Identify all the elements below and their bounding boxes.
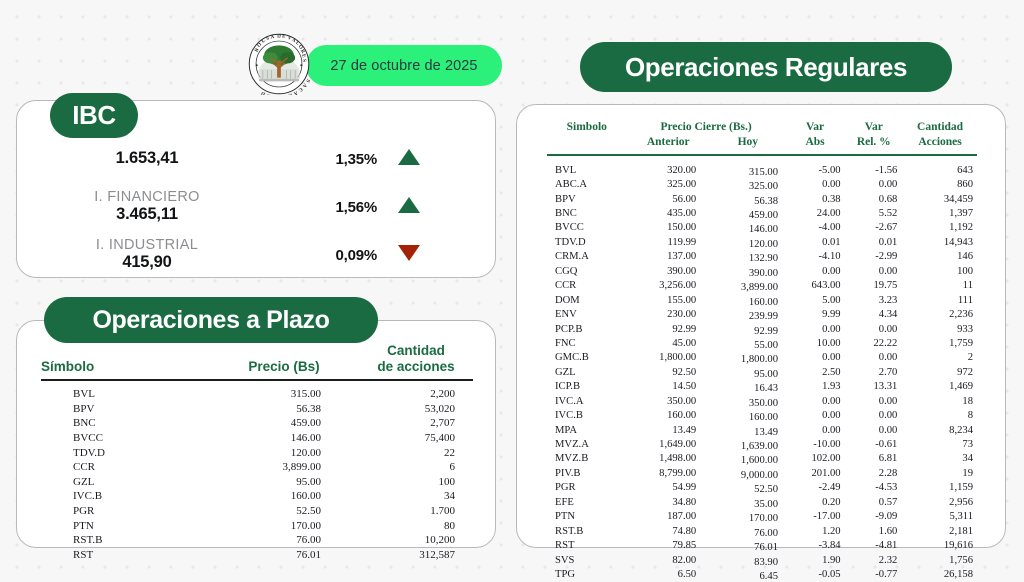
regulares-cell-var-abs: 643.00 [786, 280, 845, 291]
plazo-cell-qty: 2,200 [349, 388, 473, 400]
regulares-cell-var-rel: 0.00 [845, 179, 904, 190]
regulares-cell-anterior: 6.50 [627, 569, 711, 580]
regulares-table-header: Simbolo Precio Cierre (Bs.) Var Var Cant… [547, 121, 977, 156]
plazo-header-price: Precio (Bs) [209, 359, 359, 374]
regulares-cell-symbol: MVZ.B [547, 453, 627, 464]
plazo-cell-qty: 312,587 [349, 549, 473, 561]
regulares-cell-anterior: 155.00 [627, 295, 711, 306]
bolsa-de-valores-de-caracas-seal-icon: B O L S A D E V A L O R E S D E C A R A … [248, 33, 310, 95]
plazo-cell-symbol: RST [41, 549, 199, 561]
regulares-header-var-rel-line1: Var [844, 121, 903, 133]
table-row: BPV56.3853,020 [41, 402, 473, 417]
regulares-cell-anterior: 119.99 [627, 237, 711, 248]
table-row: BVL315.002,200 [41, 387, 473, 402]
regulares-cell-var-rel: -0.61 [845, 439, 904, 450]
regulares-cell-var-rel: 2.70 [845, 367, 904, 378]
regulares-cell-symbol: GZL [547, 367, 627, 378]
regulares-cell-hoy: 315.00 [710, 167, 786, 178]
regulares-cell-hoy: 92.99 [710, 326, 786, 337]
operaciones-regulares-badge: Operaciones Regulares [580, 42, 952, 92]
table-row: SVS82.0083.901.902.321,756 [547, 553, 977, 567]
table-row: IVC.B160.0034 [41, 489, 473, 504]
plazo-cell-symbol: RST.B [41, 534, 199, 546]
plazo-cell-symbol: CCR [41, 461, 199, 473]
regulares-header-var-abs-line2: Abs [786, 136, 845, 148]
regulares-cell-hoy: 76.01 [710, 542, 786, 553]
regulares-cell-var-abs: -3.84 [786, 540, 845, 551]
regulares-cell-symbol: PGR [547, 482, 627, 493]
regulares-cell-var-abs: 1.93 [786, 381, 845, 392]
regulares-cell-symbol: PIV.B [547, 468, 627, 479]
regulares-cell-var-rel: 1.60 [845, 526, 904, 537]
regulares-cell-cantidad: 2,236 [903, 309, 977, 320]
regulares-cell-symbol: CRM.A [547, 251, 627, 262]
table-row: TDV.D119.99120.000.010.0114,943 [547, 235, 977, 249]
table-row: FNC45.0055.0010.0022.221,759 [547, 336, 977, 350]
regulares-cell-cantidad: 933 [903, 324, 977, 335]
regulares-cell-hoy: 390.00 [710, 268, 786, 279]
regulares-cell-cantidad: 14,943 [903, 237, 977, 248]
regulares-cell-var-abs: -0.05 [786, 569, 845, 580]
regulares-header-var-abs-line1: Var [786, 121, 845, 133]
plazo-cell-symbol: TDV.D [41, 447, 199, 459]
plazo-cell-qty: 22 [349, 447, 473, 459]
regulares-cell-hoy: 13.49 [710, 427, 786, 438]
plazo-cell-price: 3,899.00 [199, 461, 349, 473]
regulares-cell-var-abs: -4.00 [786, 222, 845, 233]
regulares-cell-var-abs: 2.50 [786, 367, 845, 378]
table-row: RST79.8576.01-3.84-4.8119,616 [547, 538, 977, 552]
plazo-cell-price: 95.00 [199, 476, 349, 488]
regulares-cell-cantidad: 2 [903, 352, 977, 363]
report-date-label: 27 de octubre de 2025 [330, 58, 477, 74]
plazo-cell-symbol: BPV [41, 403, 199, 415]
regulares-cell-anterior: 320.00 [627, 165, 711, 176]
table-row: CRM.A137.00132.90-4.10-2.99146 [547, 250, 977, 264]
regulares-cell-anterior: 1,649.00 [627, 439, 711, 450]
regulares-header-symbol: Simbolo [547, 121, 627, 133]
regulares-cell-symbol: BVL [547, 165, 627, 176]
ibc-index-list: 1.653,411,35%I. FINANCIERO3.465,111,56%I… [17, 135, 495, 279]
plazo-cell-price: 120.00 [199, 447, 349, 459]
table-row: BVL320.00315.00-5.00-1.56643 [547, 163, 977, 177]
regulares-cell-var-abs: 1.20 [786, 526, 845, 537]
regulares-cell-symbol: BPV [547, 194, 627, 205]
regulares-cell-symbol: MPA [547, 425, 627, 436]
regulares-cell-var-abs: 5.00 [786, 295, 845, 306]
regulares-cell-var-rel: 0.00 [845, 352, 904, 363]
plazo-header-symbol: Símbolo [41, 359, 209, 374]
regulares-cell-anterior: 54.99 [627, 482, 711, 493]
operaciones-a-plazo-card: Símbolo Precio (Bs) Cantidad de acciones… [16, 320, 496, 548]
plazo-cell-qty: 80 [349, 520, 473, 532]
table-row: ENV230.00239.999.994.342,236 [547, 307, 977, 321]
regulares-cell-anterior: 1,800.00 [627, 352, 711, 363]
regulares-cell-cantidad: 1,469 [903, 381, 977, 392]
regulares-cell-anterior: 435.00 [627, 208, 711, 219]
regulares-cell-hoy: 160.00 [710, 297, 786, 308]
regulares-cell-var-rel: 2.28 [845, 468, 904, 479]
regulares-cell-var-abs: 0.00 [786, 266, 845, 277]
regulares-cell-var-rel: 4.34 [845, 309, 904, 320]
regulares-cell-hoy: 146.00 [710, 224, 786, 235]
regulares-cell-hoy: 1,639.00 [710, 441, 786, 452]
regulares-cell-anterior: 56.00 [627, 194, 711, 205]
regulares-header-hoy: Hoy [710, 136, 786, 148]
table-row: MPA13.4913.490.000.008,234 [547, 423, 977, 437]
regulares-cell-cantidad: 111 [903, 295, 977, 306]
ibc-index-value: 415,90 [17, 253, 277, 273]
regulares-table-body: BVL320.00315.00-5.00-1.56643ABC.A325.003… [547, 163, 977, 582]
ibc-index-value: 3.465,11 [17, 205, 277, 225]
regulares-cell-anterior: 137.00 [627, 251, 711, 262]
plazo-cell-qty: 100 [349, 476, 473, 488]
plazo-cell-price: 146.00 [199, 432, 349, 444]
table-row: RST.B76.0010,200 [41, 533, 473, 548]
report-date-badge: 27 de octubre de 2025 [306, 45, 502, 86]
plazo-header-quantity-line2: de acciones [359, 359, 473, 375]
triangle-down-icon [377, 245, 431, 266]
regulares-cell-var-abs: 0.00 [786, 425, 845, 436]
plazo-cell-price: 56.38 [199, 403, 349, 415]
table-row: GZL95.00100 [41, 475, 473, 490]
table-row: IVC.B160.00160.000.000.008 [547, 408, 977, 422]
table-row: BVCC150.00146.00-4.00-2.671,192 [547, 221, 977, 235]
table-row: PTN187.00170.00-17.00-9.095,311 [547, 510, 977, 524]
plazo-cell-symbol: GZL [41, 476, 199, 488]
regulares-cell-symbol: RST.B [547, 526, 627, 537]
regulares-cell-anterior: 14.50 [627, 381, 711, 392]
regulares-cell-symbol: CCR [547, 280, 627, 291]
plazo-header-quantity-line1: Cantidad [359, 343, 473, 359]
regulares-cell-anterior: 150.00 [627, 222, 711, 233]
plazo-cell-qty: 10,200 [349, 534, 473, 546]
regulares-cell-hoy: 459.00 [710, 210, 786, 221]
regulares-cell-symbol: CGQ [547, 266, 627, 277]
table-row: BNC435.00459.0024.005.521,397 [547, 206, 977, 220]
ibc-index-identity: I. INDUSTRIAL415,90 [17, 237, 295, 273]
regulares-cell-cantidad: 860 [903, 179, 977, 190]
regulares-cell-var-abs: -4.10 [786, 251, 845, 262]
regulares-cell-hoy: 160.00 [710, 412, 786, 423]
regulares-header-precio-group: Precio Cierre (Bs.) [627, 121, 786, 133]
regulares-cell-anterior: 45.00 [627, 338, 711, 349]
regulares-cell-cantidad: 73 [903, 439, 977, 450]
regulares-cell-symbol: PTN [547, 511, 627, 522]
regulares-cell-var-abs: 9.99 [786, 309, 845, 320]
plazo-cell-price: 76.01 [199, 549, 349, 561]
regulares-cell-cantidad: 1,397 [903, 208, 977, 219]
table-row: EFE34.8035.000.200.572,956 [547, 495, 977, 509]
ibc-badge: IBC [50, 93, 138, 138]
regulares-cell-var-rel: 6.81 [845, 453, 904, 464]
plazo-cell-price: 76.00 [199, 534, 349, 546]
regulares-cell-hoy: 239.99 [710, 311, 786, 322]
regulares-cell-hoy: 3,899.00 [710, 282, 786, 293]
regulares-cell-cantidad: 1,759 [903, 338, 977, 349]
svg-text:D: D [277, 33, 281, 39]
regulares-cell-anterior: 74.80 [627, 526, 711, 537]
regulares-cell-var-rel: -4.53 [845, 482, 904, 493]
regulares-cell-cantidad: 34 [903, 453, 977, 464]
regulares-cell-var-rel: -2.67 [845, 222, 904, 233]
regulares-cell-var-abs: 0.01 [786, 237, 845, 248]
plazo-cell-qty: 2,707 [349, 417, 473, 429]
regulares-header-cantidad-line1: Cantidad [903, 121, 977, 133]
regulares-cell-var-rel: 0.01 [845, 237, 904, 248]
regulares-cell-hoy: 76.00 [710, 528, 786, 539]
regulares-cell-hoy: 16.43 [710, 383, 786, 394]
table-row: ABC.A325.00325.000.000.00860 [547, 177, 977, 191]
regulares-cell-hoy: 350.00 [710, 398, 786, 409]
table-row: TDV.D120.0022 [41, 445, 473, 460]
regulares-cell-var-rel: 5.52 [845, 208, 904, 219]
ibc-index-identity: 1.653,41 [17, 149, 295, 169]
table-row: MVZ.B1,498.001,600.00102.006.8134 [547, 452, 977, 466]
regulares-cell-hoy: 325.00 [710, 181, 786, 192]
svg-text:C: C [277, 94, 281, 95]
plazo-cell-symbol: BNC [41, 417, 199, 429]
regulares-cell-symbol: IVC.A [547, 396, 627, 407]
regulares-cell-hoy: 56.38 [710, 196, 786, 207]
regulares-cell-hoy: 6.45 [710, 571, 786, 582]
table-row: BPV56.0056.380.380.6834,459 [547, 192, 977, 206]
table-row: CCR3,256.003,899.00643.0019.7511 [547, 279, 977, 293]
triangle-up-icon [377, 197, 431, 218]
ibc-index-label: I. INDUSTRIAL [17, 237, 277, 254]
regulares-cell-cantidad: 1,159 [903, 482, 977, 493]
table-row: RST.B74.8076.001.201.602,181 [547, 524, 977, 538]
regulares-cell-anterior: 325.00 [627, 179, 711, 190]
ibc-index-label: I. FINANCIERO [17, 189, 277, 206]
regulares-cell-anterior: 3,256.00 [627, 280, 711, 291]
regulares-cell-cantidad: 643 [903, 165, 977, 176]
regulares-cell-anterior: 187.00 [627, 511, 711, 522]
regulares-cell-var-rel: 0.68 [845, 194, 904, 205]
regulares-cell-hoy: 95.00 [710, 369, 786, 380]
regulares-cell-var-rel: 3.23 [845, 295, 904, 306]
regulares-cell-anterior: 8,799.00 [627, 468, 711, 479]
regulares-cell-var-rel: 2.32 [845, 555, 904, 566]
plazo-cell-qty: 75,400 [349, 432, 473, 444]
table-row: PGR52.501.700 [41, 504, 473, 519]
regulares-cell-var-abs: -2.49 [786, 482, 845, 493]
regulares-cell-var-rel: 19.75 [845, 280, 904, 291]
regulares-cell-hoy: 1,800.00 [710, 354, 786, 365]
regulares-cell-hoy: 35.00 [710, 499, 786, 510]
regulares-cell-var-rel: 0.57 [845, 497, 904, 508]
regulares-cell-anterior: 92.99 [627, 324, 711, 335]
plazo-cell-qty: 6 [349, 461, 473, 473]
ibc-index-percent: 1,56% [295, 199, 377, 216]
regulares-cell-cantidad: 1,756 [903, 555, 977, 566]
operaciones-regulares-card: Simbolo Precio Cierre (Bs.) Var Var Cant… [516, 104, 1006, 548]
regulares-cell-var-rel: -9.09 [845, 511, 904, 522]
regulares-cell-var-abs: 102.00 [786, 453, 845, 464]
regulares-cell-var-rel: 0.00 [845, 324, 904, 335]
regulares-cell-hoy: 120.00 [710, 239, 786, 250]
plazo-cell-price: 52.50 [199, 505, 349, 517]
table-row: GZL92.5095.002.502.70972 [547, 365, 977, 379]
regulares-cell-var-rel: -0.77 [845, 569, 904, 580]
regulares-cell-cantidad: 26,158 [903, 569, 977, 580]
table-row: PTN170.0080 [41, 518, 473, 533]
regulares-cell-anterior: 230.00 [627, 309, 711, 320]
regulares-cell-var-rel: 0.00 [845, 425, 904, 436]
regulares-cell-var-abs: -10.00 [786, 439, 845, 450]
regulares-cell-var-abs: -17.00 [786, 511, 845, 522]
table-row: PIV.B8,799.009,000.00201.002.2819 [547, 466, 977, 480]
regulares-cell-var-rel: -4.81 [845, 540, 904, 551]
table-row: PGR54.9952.50-2.49-4.531,159 [547, 481, 977, 495]
operaciones-regulares-badge-label: Operaciones Regulares [625, 52, 907, 83]
regulares-cell-var-abs: 10.00 [786, 338, 845, 349]
regulares-cell-symbol: EFE [547, 497, 627, 508]
ibc-index-row: I. INDUSTRIAL415,900,09% [17, 231, 495, 279]
regulares-header-anterior: Anterior [627, 136, 710, 148]
regulares-cell-anterior: 79.85 [627, 540, 711, 551]
regulares-cell-symbol: GMC.B [547, 352, 627, 363]
table-row: BNC459.002,707 [41, 416, 473, 431]
regulares-cell-symbol: PCP.B [547, 324, 627, 335]
regulares-cell-symbol: TDV.D [547, 237, 627, 248]
regulares-cell-cantidad: 8 [903, 410, 977, 421]
regulares-cell-symbol: TPG [547, 569, 627, 580]
regulares-cell-var-rel: 13.31 [845, 381, 904, 392]
regulares-cell-cantidad: 18 [903, 396, 977, 407]
regulares-cell-hoy: 1,600.00 [710, 455, 786, 466]
regulares-cell-var-rel: -2.99 [845, 251, 904, 262]
plazo-table-header: Símbolo Precio (Bs) Cantidad de acciones [41, 343, 473, 381]
regulares-cell-symbol: SVS [547, 555, 627, 566]
regulares-cell-anterior: 160.00 [627, 410, 711, 421]
regulares-cell-var-abs: 1.90 [786, 555, 845, 566]
table-row: MVZ.A1,649.001,639.00-10.00-0.6173 [547, 437, 977, 451]
regulares-cell-symbol: IVC.B [547, 410, 627, 421]
plazo-cell-symbol: PTN [41, 520, 199, 532]
regulares-cell-cantidad: 19 [903, 468, 977, 479]
table-row: ICP.B14.5016.431.9313.311,469 [547, 380, 977, 394]
regulares-cell-hoy: 9,000.00 [710, 470, 786, 481]
plazo-cell-symbol: PGR [41, 505, 199, 517]
regulares-cell-var-rel: 22.22 [845, 338, 904, 349]
regulares-cell-cantidad: 972 [903, 367, 977, 378]
regulares-cell-var-abs: 24.00 [786, 208, 845, 219]
regulares-cell-anterior: 1,498.00 [627, 453, 711, 464]
regulares-cell-hoy: 55.00 [710, 340, 786, 351]
regulares-cell-symbol: BNC [547, 208, 627, 219]
plazo-cell-qty: 34 [349, 490, 473, 502]
plazo-cell-symbol: BVCC [41, 432, 199, 444]
regulares-cell-var-abs: 0.00 [786, 396, 845, 407]
ibc-index-identity: I. FINANCIERO3.465,11 [17, 189, 295, 225]
regulares-cell-symbol: ICP.B [547, 381, 627, 392]
regulares-cell-var-abs: 201.00 [786, 468, 845, 479]
operaciones-a-plazo-badge-label: Operaciones a Plazo [93, 306, 330, 335]
plazo-cell-qty: 53,020 [349, 403, 473, 415]
regulares-cell-var-abs: 0.00 [786, 352, 845, 363]
regulares-cell-hoy: 52.50 [710, 484, 786, 495]
regulares-cell-cantidad: 2,956 [903, 497, 977, 508]
regulares-cell-cantidad: 2,181 [903, 526, 977, 537]
regulares-cell-var-abs: -5.00 [786, 165, 845, 176]
table-row: IVC.A350.00350.000.000.0018 [547, 394, 977, 408]
regulares-cell-var-abs: 0.20 [786, 497, 845, 508]
plazo-cell-symbol: BVL [41, 388, 199, 400]
regulares-cell-anterior: 82.00 [627, 555, 711, 566]
table-row: DOM155.00160.005.003.23111 [547, 293, 977, 307]
plazo-cell-symbol: IVC.B [41, 490, 199, 502]
plazo-cell-qty: 1.700 [349, 505, 473, 517]
regulares-header-var-rel-line2: Rel. % [844, 136, 903, 148]
table-row: PCP.B92.9992.990.000.00933 [547, 322, 977, 336]
regulares-cell-hoy: 132.90 [710, 253, 786, 264]
regulares-cell-anterior: 34.80 [627, 497, 711, 508]
ibc-index-percent: 0,09% [295, 247, 377, 264]
ibc-badge-label: IBC [72, 100, 116, 131]
regulares-cell-symbol: ENV [547, 309, 627, 320]
regulares-cell-var-rel: 0.00 [845, 396, 904, 407]
regulares-cell-anterior: 92.50 [627, 367, 711, 378]
regulares-cell-cantidad: 1,192 [903, 222, 977, 233]
regulares-cell-var-rel: 0.00 [845, 266, 904, 277]
regulares-cell-cantidad: 146 [903, 251, 977, 262]
regulares-cell-hoy: 83.90 [710, 557, 786, 568]
regulares-cell-var-abs: 0.38 [786, 194, 845, 205]
regulares-cell-var-abs: 0.00 [786, 179, 845, 190]
table-row: TPG6.506.45-0.05-0.7726,158 [547, 567, 977, 581]
table-row: GMC.B1,800.001,800.000.000.002 [547, 351, 977, 365]
regulares-cell-var-rel: -1.56 [845, 165, 904, 176]
regulares-cell-cantidad: 34,459 [903, 194, 977, 205]
regulares-cell-var-abs: 0.00 [786, 324, 845, 335]
regulares-cell-symbol: BVCC [547, 222, 627, 233]
regulares-cell-cantidad: 5,311 [903, 511, 977, 522]
plazo-cell-price: 459.00 [199, 417, 349, 429]
regulares-cell-cantidad: 11 [903, 280, 977, 291]
regulares-cell-cantidad: 19,616 [903, 540, 977, 551]
plazo-cell-price: 160.00 [199, 490, 349, 502]
regulares-cell-anterior: 350.00 [627, 396, 711, 407]
plazo-cell-price: 315.00 [199, 388, 349, 400]
ibc-index-row: I. FINANCIERO3.465,111,56% [17, 183, 495, 231]
regulares-cell-symbol: DOM [547, 295, 627, 306]
ibc-index-value: 1.653,41 [17, 149, 277, 169]
plazo-cell-price: 170.00 [199, 520, 349, 532]
plazo-table-body: BVL315.002,200BPV56.3853,020BNC459.002,7… [41, 387, 473, 562]
table-row: CGQ390.00390.000.000.00100 [547, 264, 977, 278]
regulares-cell-anterior: 13.49 [627, 425, 711, 436]
regulares-cell-symbol: RST [547, 540, 627, 551]
table-row: BVCC146.0075,400 [41, 431, 473, 446]
ibc-index-percent: 1,35% [295, 151, 377, 168]
table-row: RST76.01312,587 [41, 548, 473, 563]
regulares-header-cantidad-line2: Acciones [903, 136, 977, 148]
triangle-up-icon [377, 149, 431, 170]
operaciones-a-plazo-badge: Operaciones a Plazo [44, 297, 378, 343]
ibc-index-row: 1.653,411,35% [17, 135, 495, 183]
regulares-cell-symbol: FNC [547, 338, 627, 349]
regulares-cell-cantidad: 8,234 [903, 425, 977, 436]
regulares-cell-anterior: 390.00 [627, 266, 711, 277]
regulares-cell-var-abs: 0.00 [786, 410, 845, 421]
plazo-header-quantity: Cantidad de acciones [359, 343, 473, 374]
regulares-cell-symbol: ABC.A [547, 179, 627, 190]
regulares-cell-var-rel: 0.00 [845, 410, 904, 421]
regulares-cell-cantidad: 100 [903, 266, 977, 277]
table-row: CCR3,899.006 [41, 460, 473, 475]
regulares-cell-symbol: MVZ.A [547, 439, 627, 450]
